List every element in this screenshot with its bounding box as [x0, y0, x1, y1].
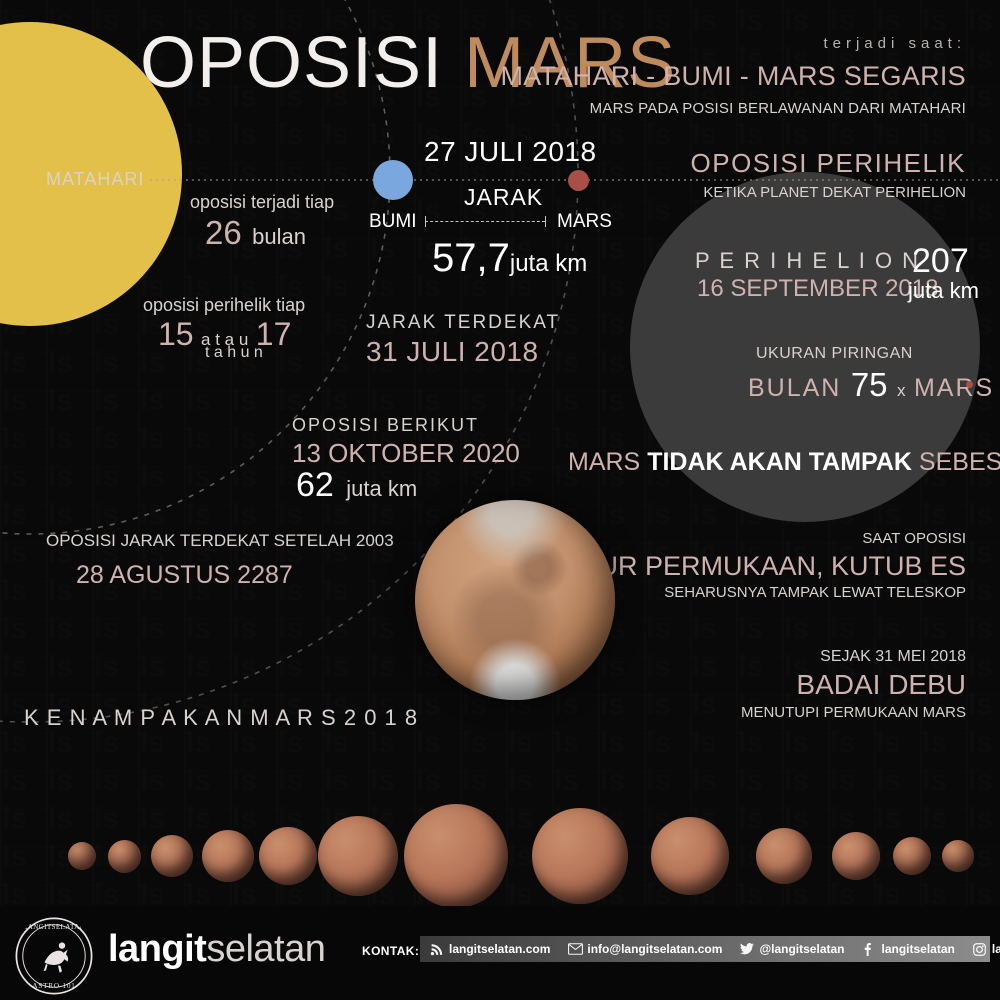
- saat-oposisi-heading: FITUR PERMUKAAN, KUTUB ES: [558, 553, 966, 580]
- mars-label: MARS: [557, 212, 612, 231]
- contact-twitter[interactable]: @langitselatan: [740, 942, 844, 956]
- header-line-2: MARS PADA POSISI BERLAWANAN DARI MATAHAR…: [590, 101, 966, 116]
- distance-unit: juta km: [510, 250, 587, 277]
- mars-size-chart: JANFEBMARAPRMEIJUNJULAGTSEPOKTNOVDESJAN: [0, 748, 1000, 908]
- contact-text: @langitselatan: [759, 942, 844, 956]
- dimension-cap-right: [545, 216, 546, 227]
- mars-disc-sep: [651, 817, 729, 895]
- perihelion-unit: juta km: [908, 280, 979, 302]
- contact-text: langitselatan.com: [449, 942, 550, 956]
- fact-berikut-value: 62: [296, 466, 334, 504]
- mail-icon: [568, 943, 582, 955]
- contact-instagram[interactable]: langitselatanmedia: [973, 942, 1000, 956]
- logo-ring-top-text: LANGITSELATAN: [23, 923, 86, 931]
- ukuran-value-group: BULAN 75 x MARS: [748, 368, 994, 401]
- contact-text: info@langitselatan.com: [587, 942, 722, 956]
- langitselatan-logo: LANGITSELATAN ASTRO 101: [14, 916, 94, 996]
- saat-oposisi-sub: SEHARUSNYA TAMPAK LEWAT TELESKOP: [664, 585, 966, 600]
- header-line-1: MATAHARI - BUMI - MARS SEGARIS: [500, 63, 966, 90]
- contact-text: langitselatanmedia: [992, 942, 1000, 956]
- statement-part-b: TIDAK AKAN TAMPAK: [647, 448, 912, 476]
- mars-scale-dot-icon: [966, 381, 973, 388]
- distance-value-group: 57,7juta km: [432, 238, 587, 278]
- statement-part-c: SEBESAR BULAN: [912, 448, 1000, 476]
- rss-icon: [430, 943, 444, 955]
- kenampakan-title: K E N A M P A K A N M A R S 2 0 1 8: [24, 707, 418, 729]
- contact-bar: langitselatan.cominfo@langitselatan.com@…: [420, 936, 990, 962]
- fact-perihelik-unit: t a h u n: [205, 345, 263, 361]
- mars-disc-apr: [202, 830, 254, 882]
- fact-setelah2003-date: 28 AGUSTUS 2287: [76, 563, 293, 588]
- ukuran-times: x: [897, 381, 906, 400]
- ukuran-value: 75: [851, 366, 888, 403]
- header-eyebrow: terjadi saat:: [823, 36, 966, 51]
- distance-dimension-line: [425, 221, 545, 223]
- twitter-icon: [740, 943, 754, 955]
- saat-oposisi-caption: SAAT OPOSISI: [862, 531, 966, 546]
- opposition-date: 27 JULI 2018: [424, 138, 597, 166]
- perihelik-sub: KETIKA PLANET DEKAT PERIHELION: [703, 185, 966, 200]
- perihelion-value: 207: [912, 244, 969, 278]
- earth-label: BUMI: [369, 212, 417, 231]
- brand-part-langit: langit: [108, 928, 206, 970]
- earth-dot: [373, 160, 413, 200]
- ukuran-caption: UKURAN PIRINGAN: [756, 346, 913, 362]
- contact-facebook[interactable]: langitselatan: [863, 942, 955, 956]
- fact-berikut-unit: juta km: [346, 476, 417, 501]
- fact-berikut-value-group: 62 juta km: [296, 468, 417, 502]
- infographic-canvas: ls OPOSISI MARS terjadi saat: MATAHARI -…: [0, 0, 1000, 1000]
- contact-text: langitselatan: [882, 942, 955, 956]
- badai-caption: SEJAK 31 MEI 2018: [820, 649, 966, 665]
- fact-terdekat-date: 31 JULI 2018: [366, 338, 539, 366]
- fact-perihelik-value-1: 15: [158, 316, 194, 352]
- contact-mail[interactable]: info@langitselatan.com: [568, 942, 722, 956]
- fact-setelah2003-caption: OPOSISI JARAK TERDEKAT SETELAH 2003: [46, 532, 394, 549]
- instagram-icon: [973, 943, 987, 955]
- fact-oposisi-value-group: 26 bulan: [205, 216, 306, 249]
- perihelion-date: 16 SEPTEMBER 2018: [697, 277, 938, 301]
- brand-wordmark: langitselatan: [108, 928, 325, 971]
- fact-oposisi-value: 26: [205, 214, 242, 251]
- mars-disc-nov: [832, 832, 880, 880]
- perihelion-label: P E R I H E L I O N: [695, 250, 920, 272]
- kontak-label: KONTAK:: [362, 944, 419, 958]
- dimension-cap-left: [425, 216, 426, 227]
- perihelik-heading: OPOSISI PERIHELIK: [691, 150, 966, 176]
- statement-part-a: MARS: [568, 448, 647, 476]
- fact-terdekat-caption: JARAK TERDEKAT: [366, 313, 560, 332]
- mars-disc-jul: [404, 804, 508, 908]
- sun-label: MATAHARI: [46, 170, 144, 188]
- mars-disc-des: [893, 837, 931, 875]
- brand-part-selatan: selatan: [206, 928, 325, 970]
- mars-disc-jun: [318, 816, 398, 896]
- mars-disc-mei: [259, 827, 317, 885]
- jarak-label: JARAK: [464, 186, 543, 209]
- statement-line: MARS TIDAK AKAN TAMPAK SEBESAR BULAN: [568, 450, 1000, 475]
- ukuran-word-bulan: BULAN: [748, 374, 841, 402]
- ukuran-word-mars: MARS: [914, 374, 994, 402]
- fact-oposisi-unit: bulan: [252, 224, 306, 249]
- mars-disc-jan: [942, 840, 974, 872]
- mars-disc-okt: [756, 828, 812, 884]
- mars-disc-agt: [532, 808, 628, 904]
- logo-ring-bottom-text: ASTRO 101: [32, 982, 75, 990]
- badai-heading: BADAI DEBU: [796, 671, 966, 699]
- mars-hero-image: [415, 500, 615, 700]
- title-part-oposisi: OPOSISI: [140, 23, 443, 103]
- badai-sub: MENUTUPI PERMUKAAN MARS: [741, 705, 966, 720]
- mars-disc-jan: [68, 842, 96, 870]
- mars-disc-mar: [151, 835, 193, 877]
- fact-berikut-date: 13 OKTOBER 2020: [292, 440, 520, 466]
- mars-disc-feb: [108, 840, 141, 873]
- fact-berikut-caption: OPOSISI BERIKUT: [292, 416, 479, 434]
- contact-rss[interactable]: langitselatan.com: [430, 942, 550, 956]
- fact-oposisi-caption: oposisi terjadi tiap: [190, 193, 334, 211]
- distance-value: 57,7: [432, 236, 510, 280]
- facebook-icon: [863, 943, 877, 955]
- mars-dot: [568, 170, 589, 191]
- fact-perihelik-caption: oposisi perihelik tiap: [143, 296, 305, 314]
